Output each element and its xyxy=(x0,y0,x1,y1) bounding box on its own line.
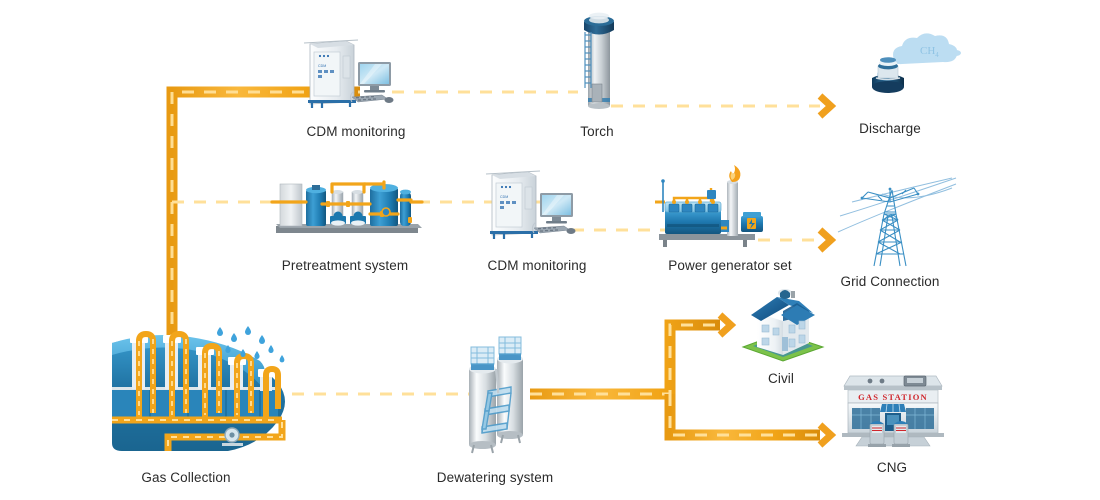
label-gas-collection: Gas Collection xyxy=(141,470,230,485)
power-lines xyxy=(838,178,956,232)
process-flow-diagram: CDM xyxy=(0,0,1100,500)
label-pretreatment: Pretreatment system xyxy=(282,258,408,273)
svg-text:CDM: CDM xyxy=(318,64,326,68)
svg-text:CDM: CDM xyxy=(500,195,508,199)
label-grid-connection: Grid Connection xyxy=(840,274,939,289)
fuel-pump-right xyxy=(892,421,910,447)
arrowhead-civil xyxy=(720,315,731,335)
flare-stack-icon xyxy=(570,10,626,115)
label-cdm-monitoring-2: CDM monitoring xyxy=(488,258,587,273)
label-power-generator: Power generator set xyxy=(668,258,791,273)
label-dewatering: Dewatering system xyxy=(437,470,554,485)
label-torch: Torch xyxy=(580,124,614,139)
arrowhead-cng xyxy=(820,425,831,445)
label-civil: Civil xyxy=(768,371,794,386)
pylon-tower xyxy=(862,188,918,266)
landfill-wells-icon xyxy=(110,325,320,455)
cdm-cabinet-computer-icon: CDM xyxy=(300,34,400,112)
label-discharge: Discharge xyxy=(859,121,921,136)
tower-front xyxy=(469,347,496,453)
keyboard-mouse xyxy=(350,91,393,103)
computer-monitor xyxy=(358,62,391,93)
vent-cloud-icon: CH4 xyxy=(846,30,966,100)
label-cng: CNG xyxy=(877,460,907,475)
arrowhead-grid xyxy=(820,230,831,250)
pylon-icon xyxy=(838,176,958,268)
arrowhead-discharge xyxy=(820,96,831,116)
fuel-pump-left xyxy=(868,421,886,447)
gas-treatment-skid-icon xyxy=(272,170,422,240)
twin-tower-icon xyxy=(455,335,545,455)
genset-engine-icon xyxy=(655,168,770,250)
gas-station-sign-text: GAS STATION xyxy=(858,392,928,402)
cdm-cabinet-computer-icon: CDM xyxy=(482,165,582,243)
gas-station-icon: GAS STATION xyxy=(838,368,948,452)
label-cdm-monitoring-1: CDM monitoring xyxy=(307,124,406,139)
house-icon xyxy=(737,285,827,363)
